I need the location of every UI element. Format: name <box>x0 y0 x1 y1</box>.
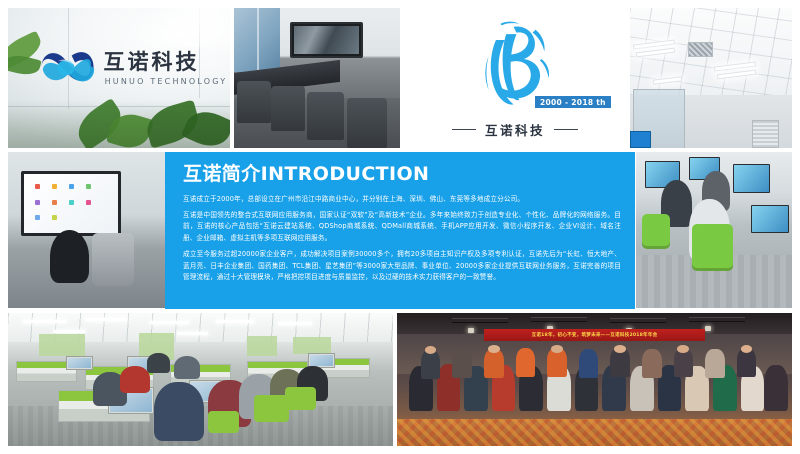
lighting-truss <box>452 318 507 323</box>
air-conditioner <box>752 120 780 148</box>
office-chair-green <box>692 224 733 271</box>
event-banner-text: 互诺18年，初心不变，筑梦未来——互诺科技2018年年会 <box>532 332 658 338</box>
hunuo-infinity-logo-icon <box>37 42 95 92</box>
attendee <box>764 365 788 412</box>
employee <box>120 366 151 393</box>
lighting-truss <box>689 317 744 322</box>
meeting-room-window <box>234 8 280 72</box>
office-monitor <box>630 131 651 148</box>
event-banner: 互诺18年，初心不变，筑梦未来——互诺科技2018年年会 <box>484 329 705 341</box>
photo-workstation-row <box>636 152 792 308</box>
meeting-room-chair <box>271 86 306 131</box>
ceiling-light <box>150 321 189 324</box>
meeting-room-tv-screen <box>290 22 363 58</box>
intro-paragraph: 互诺是中国领先的整合式互联网应用服务商，国家认证“双软”及“高新技术”企业。多年… <box>183 210 621 245</box>
meeting-room-chair <box>237 81 270 123</box>
rule-left <box>452 129 476 131</box>
monitor <box>733 164 770 192</box>
green-wall-panel <box>293 337 332 354</box>
plant-shadow <box>8 92 230 148</box>
plant-leaf <box>8 52 41 78</box>
office-chair-green <box>208 411 239 432</box>
company-profile-collage: 互诺科技 HUNUO TECHNOLOGY <box>0 0 800 454</box>
rule-right <box>554 129 578 131</box>
logo-wall-name-cn: 互诺科技 <box>103 46 199 76</box>
green-wall-panel <box>247 336 278 356</box>
attendee-head <box>614 345 626 353</box>
attendee <box>484 349 504 378</box>
ceiling-light <box>85 318 127 321</box>
ceiling-light <box>177 332 208 335</box>
logo-wall-name-en: HUNUO TECHNOLOGY <box>105 77 228 86</box>
monitor <box>751 205 788 233</box>
intro-paragraph: 互诺成立于2000年，总部设立在广州市沿江中路商业中心，并分别在上海、深圳、佛山… <box>183 194 621 206</box>
employee <box>154 382 204 441</box>
attendee-head <box>488 345 500 353</box>
office-chair-green <box>642 214 670 248</box>
attendee <box>421 350 441 379</box>
anniversary-name-row: 互诺科技 <box>404 120 626 139</box>
photo-open-office <box>8 313 393 446</box>
office-chair <box>92 233 134 286</box>
seated-person <box>50 230 89 283</box>
photo-office-interior <box>630 8 792 148</box>
green-wall-panel <box>39 334 85 355</box>
photo-logo-wall: 互诺科技 HUNUO TECHNOLOGY <box>8 8 230 148</box>
attendee <box>705 349 725 378</box>
ceiling-light <box>216 320 255 323</box>
attendee <box>516 348 536 377</box>
ceiling-vent <box>688 42 712 57</box>
meeting-room-chair <box>347 98 387 148</box>
attendee <box>642 349 662 378</box>
stage-spotlight <box>468 328 474 333</box>
intro-paragraph: 成立至今服务过超20000家企业客户，成功解决项目案例30000多个，拥有20多… <box>183 249 621 284</box>
wall-light-glow <box>137 8 230 47</box>
anniversary-company-name: 互诺科技 <box>485 120 545 139</box>
office-chair-green <box>254 395 289 422</box>
anniversary-year-badge: 2000 - 2018 th <box>535 96 611 108</box>
lighting-truss <box>610 318 665 323</box>
office-chair-green <box>285 387 316 410</box>
lighting-truss <box>531 317 586 322</box>
photo-training-room <box>8 152 170 308</box>
introduction-panel: 互诺简介INTRODUCTION 互诺成立于2000年，总部设立在广州市沿江中路… <box>165 152 635 309</box>
photo-annual-group: 互诺18年，初心不变，筑梦未来——互诺科技2018年年会 <box>397 313 792 446</box>
attendee <box>452 349 472 378</box>
photo-meeting-room <box>234 8 400 148</box>
page-title: 互诺简介INTRODUCTION <box>183 164 621 185</box>
employee <box>174 356 201 380</box>
photo-anniversary-logo: 2000 - 2018 th 互诺科技 <box>404 8 626 148</box>
stage-spotlight <box>705 326 711 331</box>
ballroom-carpet <box>397 419 792 446</box>
ceiling-light <box>54 330 85 333</box>
wall-screen-display <box>24 174 118 234</box>
meeting-room-chair <box>307 92 344 140</box>
employee <box>147 353 170 373</box>
wall-screen <box>21 171 121 237</box>
workstation-monitor <box>66 356 93 371</box>
attendee <box>579 349 599 378</box>
ceiling-light <box>23 320 65 323</box>
attendee-head <box>741 345 753 353</box>
ceiling-light <box>278 322 313 325</box>
attendee-head <box>551 345 563 353</box>
introduction-body: 互诺成立于2000年，总部设立在广州市沿江中路商业中心，并分别在上海、深圳、佛山… <box>183 194 621 284</box>
